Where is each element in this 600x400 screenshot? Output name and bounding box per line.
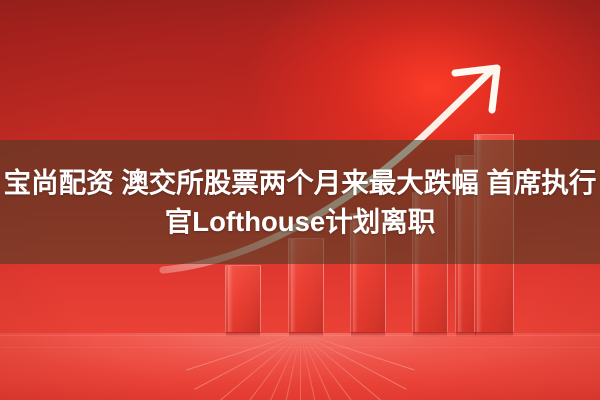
page-title: 宝尚配资 澳交所股票两个月来最大跌幅 首席执行官Lofthouse计划离职 <box>0 163 600 241</box>
headline-overlay-band: 宝尚配资 澳交所股票两个月来最大跌幅 首席执行官Lofthouse计划离职 <box>0 140 600 264</box>
image-canvas: 宝尚配资 澳交所股票两个月来最大跌幅 首席执行官Lofthouse计划离职 <box>0 0 600 400</box>
